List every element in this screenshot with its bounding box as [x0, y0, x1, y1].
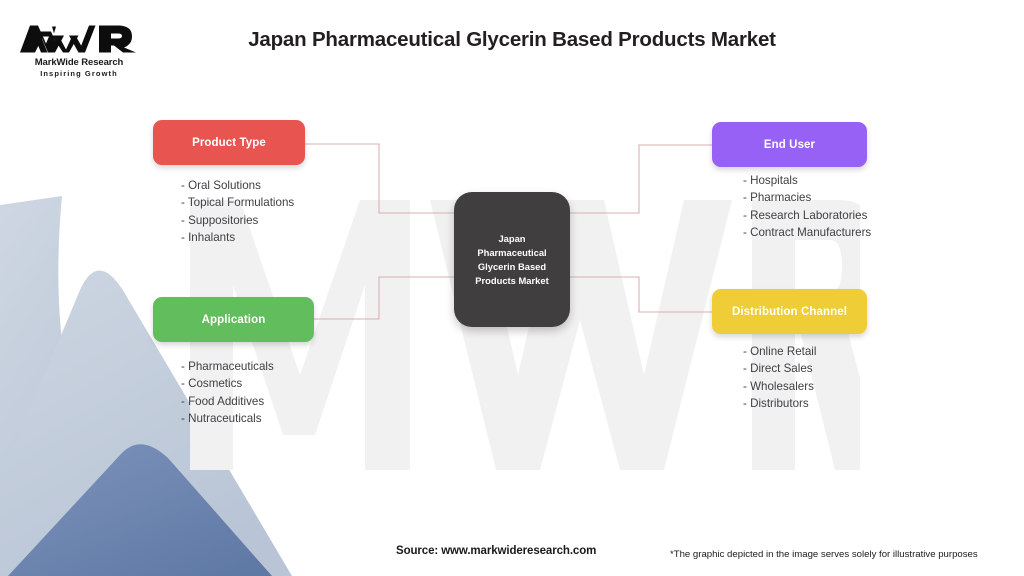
category-header-application[interactable]: Application — [153, 297, 314, 342]
list-item: - Food Additives — [181, 393, 391, 410]
source-text: Source: www.markwideresearch.com — [396, 545, 596, 557]
list-item: - Inhalants — [181, 229, 391, 246]
center-node-label: Japan Pharmaceutical Glycerin Based Prod… — [470, 232, 553, 288]
center-node-line: Glycerin Based — [475, 260, 548, 274]
category-label-product-type: Product Type — [192, 137, 266, 149]
list-item: - Distributors — [743, 395, 993, 412]
list-item: - Direct Sales — [743, 360, 993, 377]
category-label-application: Application — [202, 314, 266, 326]
category-list-distribution-channel: - Online Retail - Direct Sales - Wholesa… — [743, 343, 993, 412]
list-item: - Oral Solutions — [181, 177, 391, 194]
center-node-line: Japan — [475, 232, 548, 246]
list-item: - Pharmaceuticals — [181, 358, 391, 375]
list-item: - Online Retail — [743, 343, 993, 360]
logo-tagline: Inspiring Growth — [14, 69, 144, 78]
page-title: Japan Pharmaceutical Glycerin Based Prod… — [0, 28, 1024, 52]
disclaimer-text: *The graphic depicted in the image serve… — [670, 549, 978, 560]
list-item: - Wholesalers — [743, 378, 993, 395]
category-label-distribution-channel: Distribution Channel — [732, 306, 847, 318]
list-item: - Research Laboratories — [743, 207, 993, 224]
center-node-line: Pharmaceutical — [475, 246, 548, 260]
list-item: - Cosmetics — [181, 375, 391, 392]
center-node-line: Products Market — [475, 274, 548, 288]
list-item: - Topical Formulations — [181, 194, 391, 211]
list-item: - Suppositories — [181, 212, 391, 229]
logo-brand-name: MarkWide Research — [14, 57, 144, 68]
category-list-application: - Pharmaceuticals - Cosmetics - Food Add… — [181, 358, 391, 427]
infographic-canvas: MarkWide Research Inspiring Growth Japan… — [0, 0, 1024, 576]
category-header-distribution-channel[interactable]: Distribution Channel — [712, 289, 867, 334]
category-header-product-type[interactable]: Product Type — [153, 120, 305, 165]
list-item: - Contract Manufacturers — [743, 224, 993, 241]
list-item: - Nutraceuticals — [181, 410, 391, 427]
category-list-end-user: - Hospitals - Pharmacies - Research Labo… — [743, 172, 993, 241]
list-item: - Pharmacies — [743, 189, 993, 206]
category-label-end-user: End User — [764, 139, 815, 151]
category-list-product-type: - Oral Solutions - Topical Formulations … — [181, 177, 391, 246]
list-item: - Hospitals — [743, 172, 993, 189]
center-node[interactable]: Japan Pharmaceutical Glycerin Based Prod… — [454, 192, 570, 327]
category-header-end-user[interactable]: End User — [712, 122, 867, 167]
